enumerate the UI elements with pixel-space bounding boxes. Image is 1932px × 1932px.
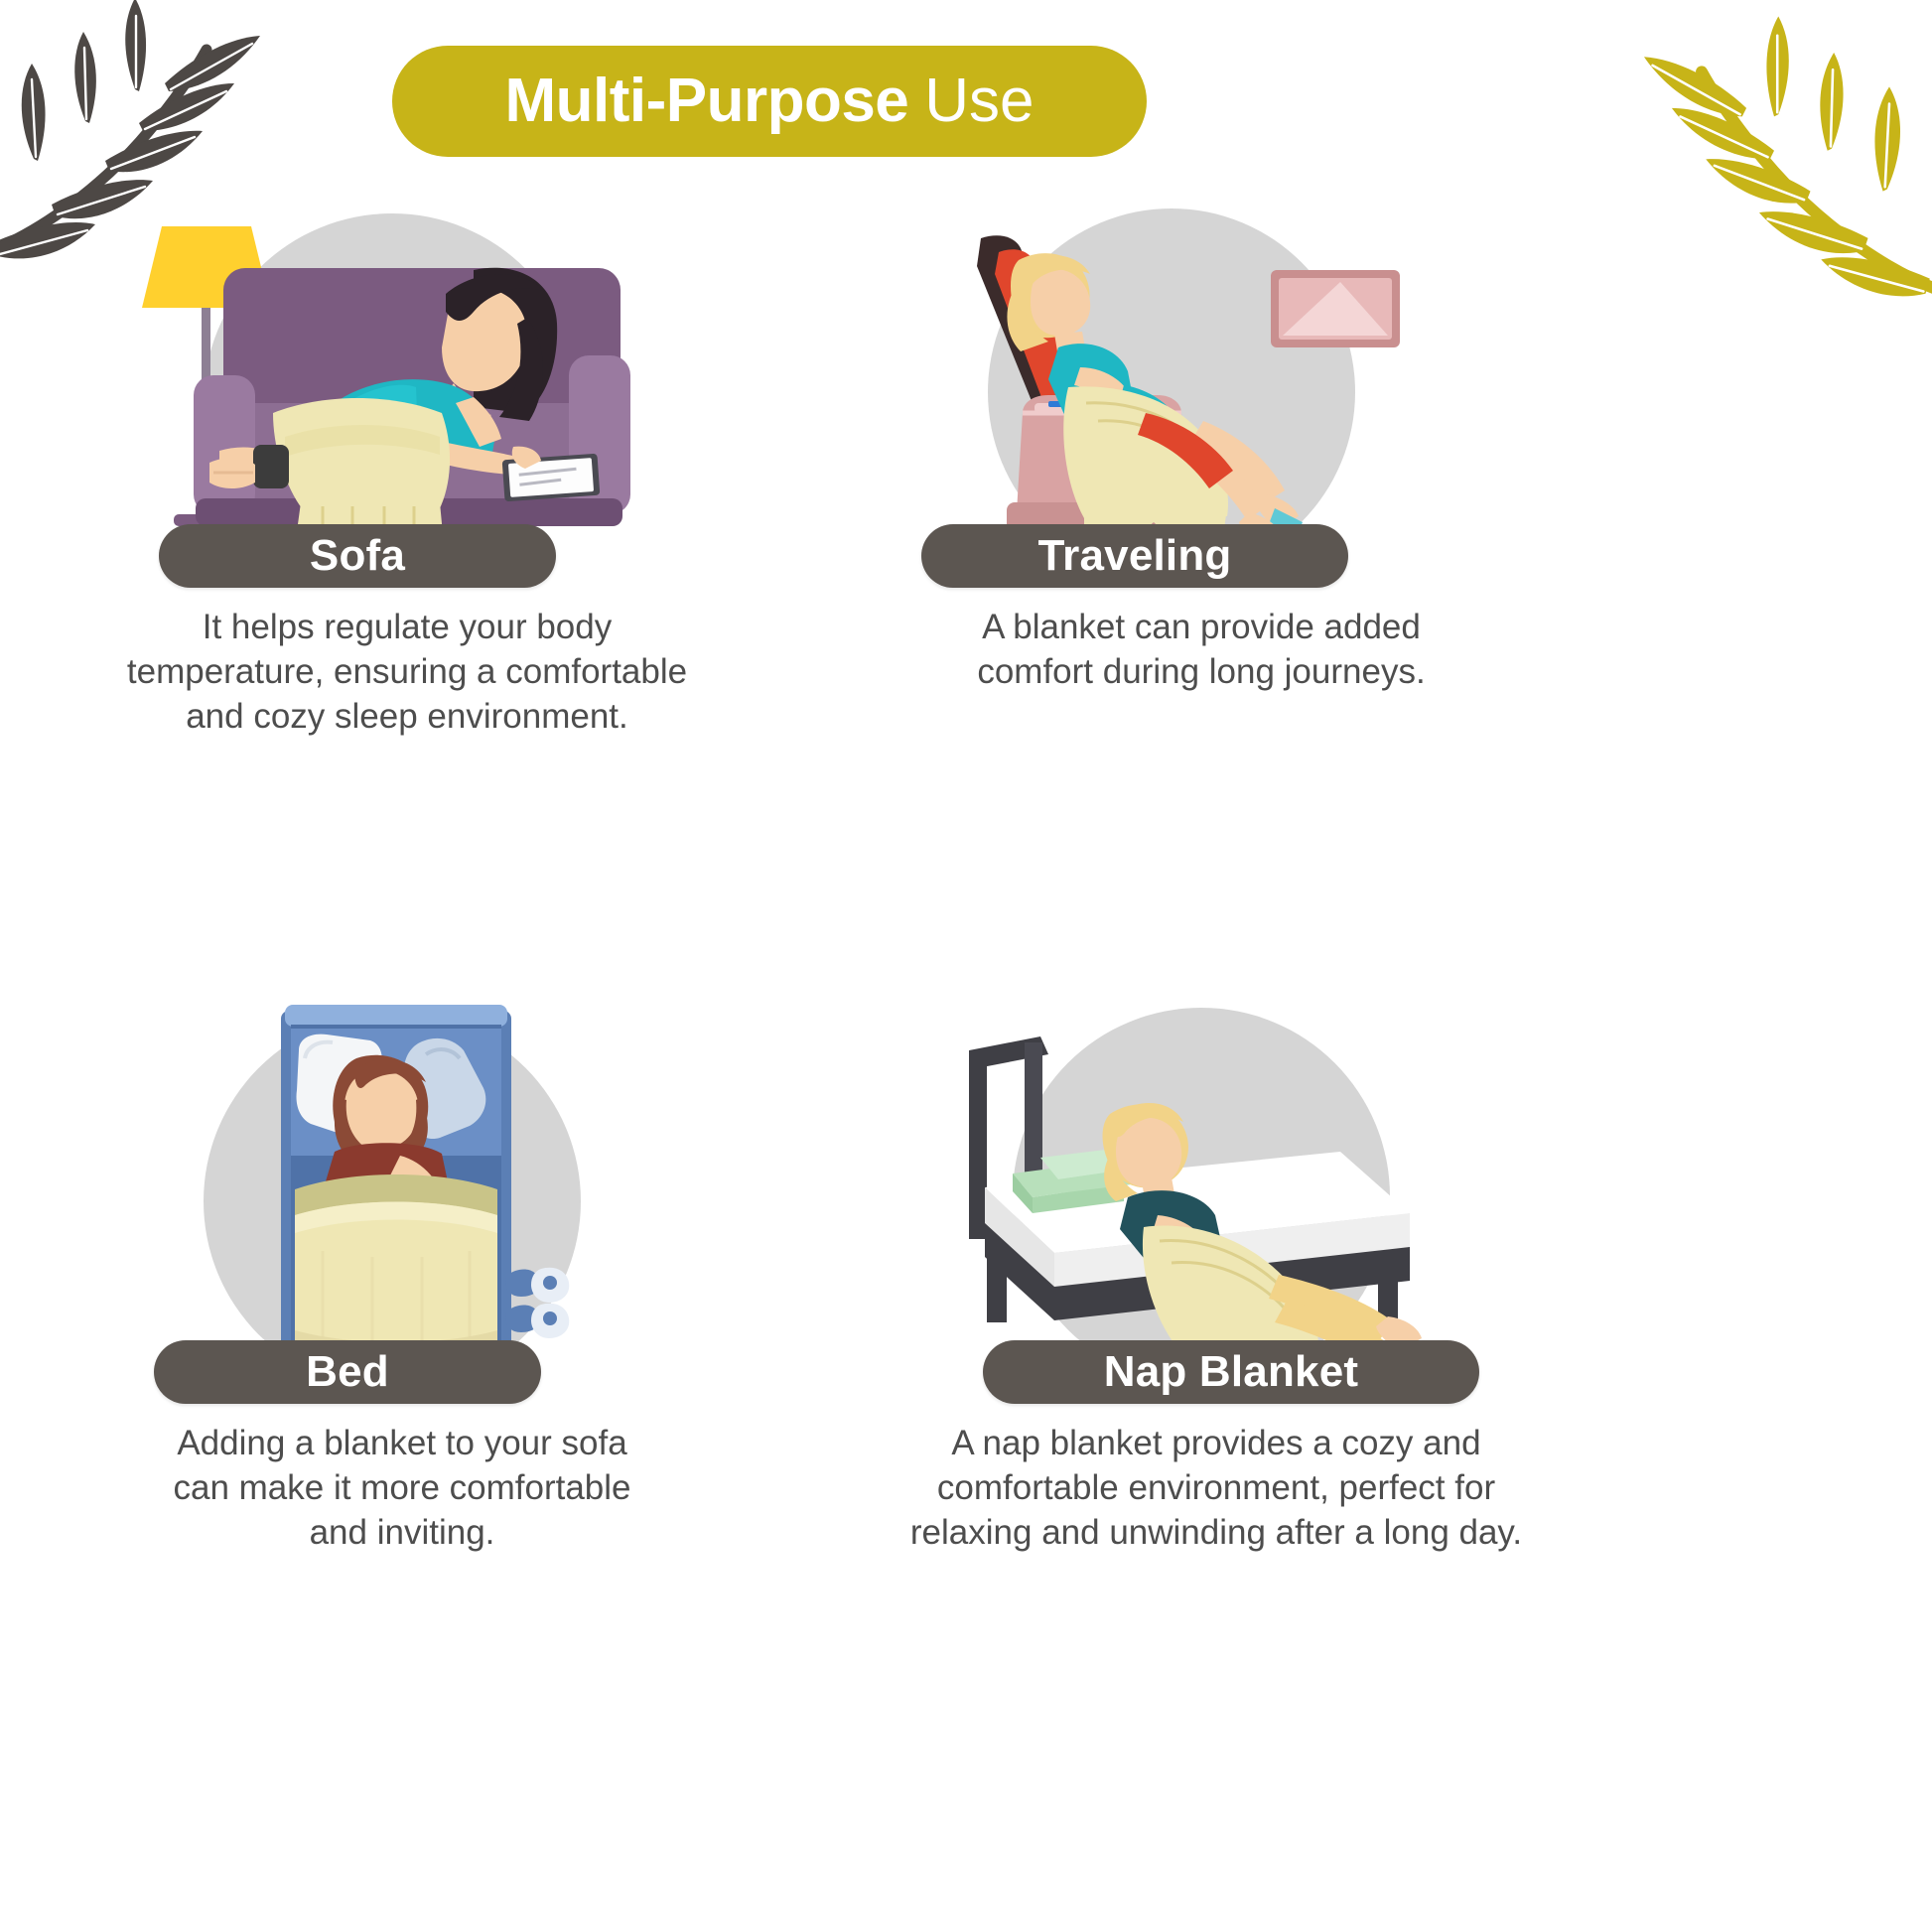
card-description-nap: A nap blanket provides a cozy and comfor…: [839, 1422, 1593, 1555]
infographic-page: Multi-Purpose Use: [0, 0, 1932, 1932]
card-label-nap: Nap Blanket: [983, 1340, 1479, 1404]
card-label-traveling: Traveling: [921, 524, 1348, 588]
card-description-sofa: It helps regulate your body temperature,…: [60, 606, 755, 739]
card-description-bed: Adding a blanket to your sofa can make i…: [84, 1422, 720, 1555]
card-label-bed: Bed: [154, 1340, 541, 1404]
leaf-branch-icon: [1610, 10, 1932, 298]
card-label-text: Traveling: [1038, 531, 1232, 581]
card-label-text: Bed: [306, 1347, 389, 1397]
card-sofa: Sofa It helps regulate your body tempera…: [25, 208, 779, 745]
woman-napping-on-bed-with-blanket-icon: [874, 1003, 1628, 1380]
card-label-sofa: Sofa: [159, 524, 556, 588]
card-label-text: Nap Blanket: [1104, 1347, 1359, 1397]
card-nap: Nap Blanket A nap blanket provides a coz…: [874, 1003, 1628, 1539]
card-label-text: Sofa: [310, 531, 405, 581]
page-title-banner: Multi-Purpose Use: [392, 46, 1147, 157]
card-traveling: Traveling A blanket can provide added co…: [874, 208, 1628, 745]
woman-in-bed-top-view-with-blanket-icon: [25, 1003, 779, 1380]
page-title-light: Use: [924, 70, 1034, 132]
card-bed: Bed Adding a blanket to your sofa can ma…: [25, 1003, 779, 1539]
page-title-bold: Multi-Purpose: [504, 70, 908, 132]
card-description-traveling: A blanket can provide added comfort duri…: [874, 606, 1529, 695]
